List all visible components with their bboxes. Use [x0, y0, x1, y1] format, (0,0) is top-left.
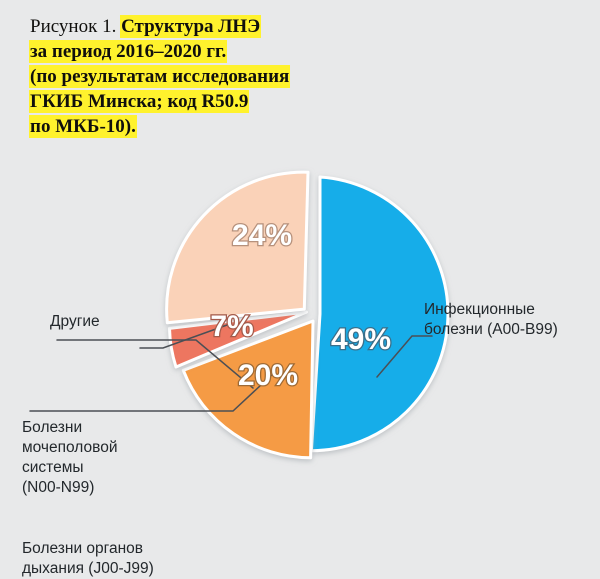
caption-line-1: Рисунок 1. Структура ЛНЭ — [30, 14, 430, 39]
caption-prefix: Рисунок 1. — [30, 16, 121, 37]
pie-label-infectious: 49% — [331, 323, 391, 356]
caption-highlight-5: по МКБ-10). — [30, 116, 136, 137]
callout-label-other: Другие — [50, 312, 200, 332]
pie-chart: 49% 20% 7% 24% Инфекционные болезни (A00… — [0, 140, 600, 483]
pie-label-other: 24% — [232, 219, 292, 252]
callout-label-genitourinary: Болезни мочеполовой системы (N00-N99) — [22, 418, 182, 498]
caption-line-4: ГКИБ Минска; код R50.9 — [30, 89, 430, 114]
caption-highlight-4: ГКИБ Минска; код R50.9 — [30, 91, 248, 112]
figure-root: Рисунок 1. Структура ЛНЭ за период 2016–… — [0, 0, 600, 483]
pie-label-respiratory: 20% — [238, 359, 298, 392]
caption-highlight-2: за период 2016–2020 гг. — [30, 41, 226, 62]
caption-line-5: по МКБ-10). — [30, 114, 430, 139]
figure-caption: Рисунок 1. Структура ЛНЭ за период 2016–… — [30, 14, 430, 139]
callout-label-infectious: Инфекционные болезни (A00-B99) — [424, 300, 596, 340]
callout-label-respiratory: Болезни органов дыхания (J00-J99) — [22, 539, 222, 579]
pie-label-genitourinary: 7% — [210, 310, 253, 343]
caption-line-2: за период 2016–2020 гг. — [30, 39, 430, 64]
caption-highlight-1: Структура ЛНЭ — [121, 16, 260, 37]
caption-highlight-3: (по результатам исследования — [30, 66, 289, 87]
caption-line-3: (по результатам исследования — [30, 64, 430, 89]
